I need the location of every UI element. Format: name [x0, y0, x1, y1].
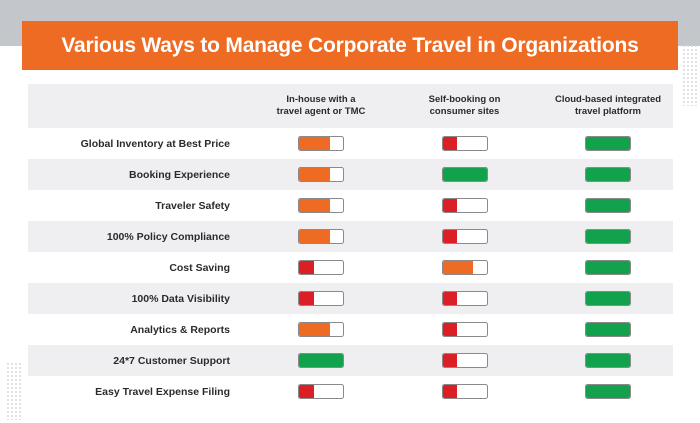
rating-cell — [533, 167, 683, 182]
rating-cell — [246, 384, 396, 399]
table-row: 100% Policy Compliance — [28, 221, 673, 252]
rating-bar — [442, 260, 488, 275]
dot-grid-decoration-right — [682, 44, 698, 106]
rating-cell — [533, 260, 683, 275]
rating-bar — [585, 260, 631, 275]
rating-bar — [442, 322, 488, 337]
rating-cell — [533, 229, 683, 244]
rating-bar-fill — [299, 199, 330, 212]
table-row: Traveler Safety — [28, 190, 673, 221]
rating-bar — [298, 167, 344, 182]
title-banner: Various Ways to Manage Corporate Travel … — [22, 21, 678, 70]
table-row: Easy Travel Expense Filing — [28, 376, 673, 407]
rating-bar — [585, 229, 631, 244]
rating-bar-fill — [443, 323, 458, 336]
comparison-table: In-house with a travel agent or TMC Self… — [28, 84, 673, 407]
rating-bar — [585, 198, 631, 213]
row-label: Global Inventory at Best Price — [28, 138, 246, 150]
rating-bar — [442, 136, 488, 151]
table-row: Global Inventory at Best Price — [28, 128, 673, 159]
rating-cell — [246, 322, 396, 337]
rating-bar-fill — [586, 168, 630, 181]
rating-cell — [246, 136, 396, 151]
rating-bar-fill — [443, 385, 458, 398]
page-title: Various Ways to Manage Corporate Travel … — [61, 34, 638, 58]
rating-cell — [246, 291, 396, 306]
rating-bar-fill — [299, 292, 314, 305]
row-label: 24*7 Customer Support — [28, 355, 246, 367]
rating-bar — [442, 229, 488, 244]
row-label: Cost Saving — [28, 262, 246, 274]
table-row: 24*7 Customer Support — [28, 345, 673, 376]
rating-bar-fill — [586, 261, 630, 274]
rating-cell — [396, 291, 533, 306]
rating-bar-fill — [586, 354, 630, 367]
rating-cell — [533, 322, 683, 337]
rating-cell — [533, 384, 683, 399]
rating-bar-fill — [443, 261, 474, 274]
rating-bar-fill — [443, 354, 458, 367]
row-label: Easy Travel Expense Filing — [28, 386, 246, 398]
rating-bar — [585, 384, 631, 399]
rating-cell — [396, 322, 533, 337]
row-label: 100% Policy Compliance — [28, 231, 246, 243]
table-row: Booking Experience — [28, 159, 673, 190]
rating-cell — [246, 353, 396, 368]
rating-bar — [585, 353, 631, 368]
rating-cell — [533, 353, 683, 368]
rating-bar — [442, 167, 488, 182]
rating-bar-fill — [443, 137, 458, 150]
rating-cell — [396, 229, 533, 244]
rating-bar — [298, 229, 344, 244]
rating-bar — [442, 384, 488, 399]
rating-bar — [442, 198, 488, 213]
table-row: Cost Saving — [28, 252, 673, 283]
rating-cell — [533, 291, 683, 306]
rating-bar-fill — [586, 199, 630, 212]
rating-bar-fill — [299, 354, 343, 367]
rating-cell — [396, 167, 533, 182]
row-label: 100% Data Visibility — [28, 293, 246, 305]
rating-bar — [298, 260, 344, 275]
row-label: Traveler Safety — [28, 200, 246, 212]
table-body: Global Inventory at Best PriceBooking Ex… — [28, 128, 673, 407]
rating-bar — [298, 322, 344, 337]
rating-bar-fill — [586, 323, 630, 336]
rating-cell — [533, 136, 683, 151]
column-header-self-booking: Self-booking on consumer sites — [396, 94, 533, 118]
rating-bar-fill — [299, 261, 314, 274]
rating-cell — [246, 198, 396, 213]
rating-bar — [585, 322, 631, 337]
rating-bar-fill — [586, 137, 630, 150]
rating-bar — [585, 167, 631, 182]
rating-bar — [298, 136, 344, 151]
rating-bar-fill — [299, 323, 330, 336]
rating-cell — [396, 384, 533, 399]
table-row: 100% Data Visibility — [28, 283, 673, 314]
rating-cell — [396, 198, 533, 213]
rating-cell — [396, 353, 533, 368]
rating-bar-fill — [443, 230, 458, 243]
rating-bar — [298, 384, 344, 399]
rating-bar-fill — [299, 137, 330, 150]
rating-bar-fill — [443, 168, 487, 181]
rating-cell — [396, 260, 533, 275]
rating-cell — [533, 198, 683, 213]
rating-bar — [585, 136, 631, 151]
rating-bar-fill — [299, 168, 330, 181]
rating-bar — [298, 353, 344, 368]
rating-bar — [585, 291, 631, 306]
rating-cell — [246, 260, 396, 275]
row-label: Booking Experience — [28, 169, 246, 181]
rating-bar — [442, 353, 488, 368]
table-header-row: In-house with a travel agent or TMC Self… — [28, 84, 673, 128]
rating-cell — [246, 229, 396, 244]
column-header-in-house: In-house with a travel agent or TMC — [246, 94, 396, 118]
table-row: Analytics & Reports — [28, 314, 673, 345]
rating-bar-fill — [586, 385, 630, 398]
column-header-cloud-platform: Cloud-based integrated travel platform — [533, 94, 683, 118]
row-label: Analytics & Reports — [28, 324, 246, 336]
rating-bar-fill — [299, 385, 314, 398]
rating-bar — [298, 291, 344, 306]
rating-bar-fill — [586, 230, 630, 243]
dot-grid-decoration-left — [6, 362, 22, 420]
rating-cell — [246, 167, 396, 182]
rating-bar — [298, 198, 344, 213]
rating-bar-fill — [299, 230, 330, 243]
rating-bar-fill — [443, 199, 458, 212]
rating-cell — [396, 136, 533, 151]
rating-bar — [442, 291, 488, 306]
rating-bar-fill — [443, 292, 458, 305]
rating-bar-fill — [586, 292, 630, 305]
